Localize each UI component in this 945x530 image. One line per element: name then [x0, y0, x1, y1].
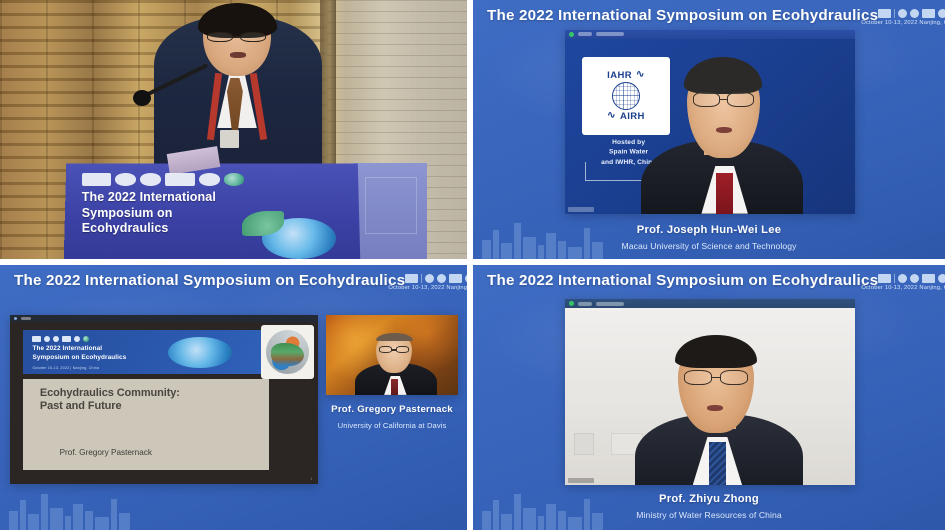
video-footer-label	[568, 478, 594, 483]
video-client-chrome	[10, 315, 318, 322]
org-circle-icon	[199, 173, 220, 185]
iahr-mark-icon	[32, 336, 41, 342]
iahr-mark-icon	[405, 274, 418, 283]
portrait-hair	[376, 333, 413, 341]
presenter-portrait	[326, 315, 458, 395]
panel-header-logos: October 10-13, 2022 Nanjing, China	[878, 7, 945, 24]
logo-divider	[421, 274, 422, 283]
slide-body: Ecohydraulics Community: Past and Future…	[23, 379, 270, 470]
city-skyline-decoration	[473, 488, 945, 530]
portrait-hair	[675, 335, 756, 368]
portrait-mouth	[716, 127, 732, 133]
slide-heading: Ecohydraulics Community: Past and Future	[40, 387, 180, 415]
four-panel-grid: The 2022 International Symposium on Ecoh…	[0, 0, 945, 530]
slide-heading-line-1: Ecohydraulics Community:	[40, 387, 180, 401]
video-tile[interactable]: IAHR ∿ ∿ AIRH Hosted by Spain Water and …	[565, 30, 855, 214]
ecohydraulics-badge-logo	[261, 325, 313, 379]
slide-presenter: Prof. Gregory Pasternack	[60, 448, 152, 457]
iahr-mark-icon	[878, 9, 891, 18]
org-circle-icon	[938, 274, 945, 283]
panel-header-title: The 2022 International Symposium on Ecoh…	[487, 7, 878, 24]
globe-leaf-icon	[83, 336, 89, 342]
keynote-gregory-pasternack-panel: The 2022 International Symposium on Ecoh…	[0, 265, 467, 530]
chrome-label-left	[21, 317, 31, 320]
logo-divider	[894, 9, 895, 18]
ecohydraulics-badge-art	[266, 330, 309, 374]
speaker-mouth	[230, 52, 246, 57]
keynote-joseph-lee-panel: The 2022 International Symposium on Ecoh…	[473, 0, 945, 259]
org-badge-icon	[922, 274, 935, 283]
speaker-portrait	[565, 299, 855, 485]
lectern-globe-graphic	[262, 218, 337, 259]
panel-header-date: October 10-13, 2022 Nanjing, China	[861, 19, 945, 25]
org-ring-icon	[115, 173, 136, 185]
logo-divider	[894, 274, 895, 283]
city-skyline-decoration	[473, 218, 945, 259]
screen-share-tile[interactable]: The 2022 International Symposium on Ecoh…	[10, 315, 318, 483]
portrait-tie	[709, 442, 726, 485]
globe-leaf-icon	[224, 173, 245, 185]
panel-header-logos: October 10-13, 2022 Nanjing, China	[878, 272, 945, 289]
portrait-glasses-icon	[693, 92, 754, 107]
portrait-hair	[684, 57, 762, 94]
slide-heading-line-2: Past and Future	[40, 400, 180, 414]
panel-header-date: October 10-13, 2022 Nanjing, China	[861, 284, 945, 290]
city-skyline-decoration	[0, 488, 467, 530]
org-seal-icon	[910, 9, 919, 18]
speaker-affiliation: University of California at Davis	[326, 421, 458, 430]
org-seal-icon	[53, 336, 59, 342]
speaker-badge	[220, 130, 239, 148]
panel-header-date: October 10-13, 2022 Nanjing, China	[388, 284, 467, 290]
org-ring-icon	[898, 9, 907, 18]
iahr-mark-icon	[82, 173, 111, 185]
org-circle-icon	[74, 336, 80, 342]
org-seal-icon	[437, 274, 446, 283]
org-badge-icon	[922, 9, 935, 18]
lectern-side	[353, 163, 428, 259]
slide-banner-line-1: The 2022 International	[32, 345, 126, 354]
portrait-tie	[716, 173, 733, 213]
org-badge-icon	[449, 274, 462, 283]
portrait-glasses-icon	[684, 370, 748, 385]
lectern-sign-line-1: The 2022 International	[82, 190, 297, 205]
org-badge-icon	[165, 173, 194, 185]
video-tile[interactable]	[565, 299, 855, 485]
speaker-glasses-icon	[207, 32, 266, 43]
org-badge-icon	[62, 336, 71, 342]
video-footer-label	[568, 207, 594, 212]
recording-indicator-icon	[14, 317, 17, 320]
org-seal-icon	[910, 274, 919, 283]
slide-banner: The 2022 International Symposium on Ecoh…	[23, 330, 270, 374]
org-ring-icon	[44, 336, 50, 342]
portrait-mouth	[707, 405, 723, 411]
slide-banner-line-2: Symposium on Ecohydraulics	[32, 354, 126, 363]
panel-header-title: The 2022 International Symposium on Ecoh…	[14, 272, 405, 289]
speaker-name: Prof. Gregory Pasternack	[326, 404, 458, 415]
slide-globe-graphic	[168, 337, 232, 368]
panel-header-title: The 2022 International Symposium on Ecoh…	[487, 272, 878, 289]
keynote-zhiyu-zhong-panel: The 2022 International Symposium on Ecoh…	[473, 265, 945, 530]
panel-header: The 2022 International Symposium on Ecoh…	[473, 265, 945, 289]
org-seal-icon	[140, 173, 161, 185]
speaker-portrait	[565, 30, 855, 214]
portrait-tie	[391, 379, 398, 395]
org-ring-icon	[898, 274, 907, 283]
slide-banner-title: The 2022 International Symposium on Ecoh…	[32, 345, 126, 362]
portrait-glasses-icon	[379, 346, 409, 352]
panel-header: The 2022 International Symposium on Ecoh…	[473, 0, 945, 24]
iahr-mark-icon	[878, 274, 891, 283]
podium-photo-panel: The 2022 International Symposium on Ecoh…	[0, 0, 467, 259]
org-ring-icon	[425, 274, 434, 283]
org-circle-icon	[938, 9, 945, 18]
presenter-thumbnail-tile[interactable]	[326, 315, 458, 395]
panel-header: The 2022 International Symposium on Ecoh…	[0, 265, 467, 289]
org-circle-icon	[465, 274, 467, 283]
slide-page-number: 1	[310, 476, 312, 481]
panel-header-logos: October 10-13, 2022 Nanjing, China	[405, 272, 467, 289]
lectern-logo-row	[82, 172, 278, 187]
slide-banner-date: October 10-13, 2022 | Nanjing, China	[32, 366, 99, 370]
slide-banner-logo-row	[32, 336, 89, 342]
